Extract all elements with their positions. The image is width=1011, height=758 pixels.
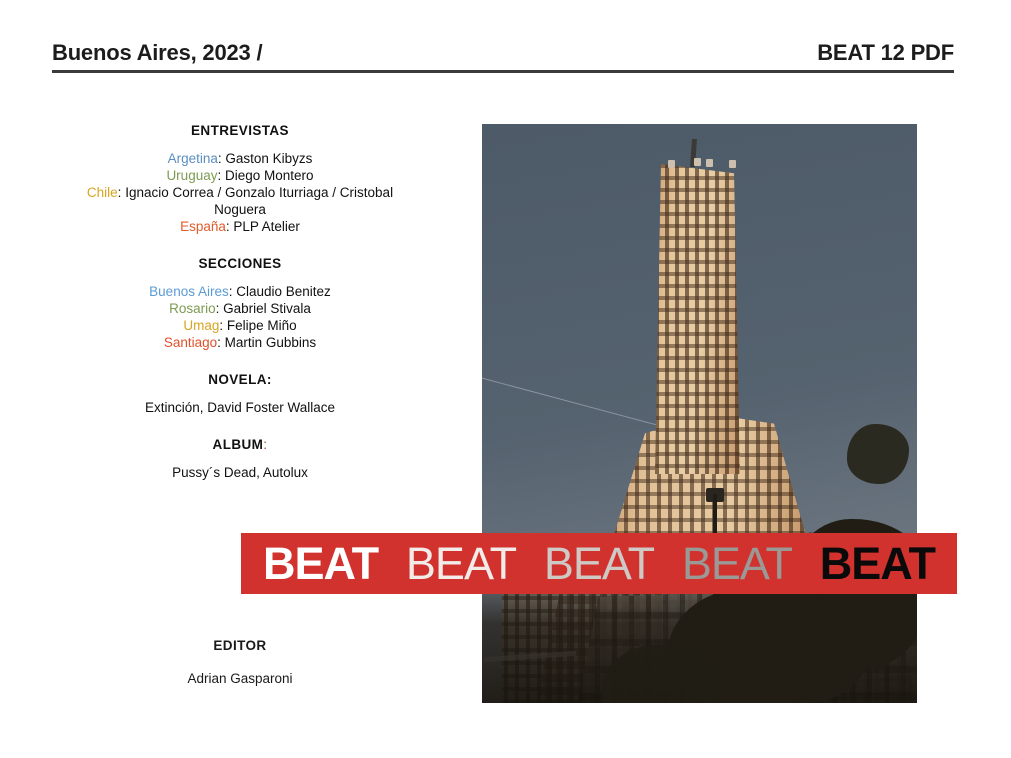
section-city-label: Buenos Aires bbox=[149, 284, 229, 299]
spacer bbox=[84, 351, 396, 371]
masthead-right-title: BEAT 12 PDF bbox=[817, 40, 954, 66]
tower-upper-shaft bbox=[655, 164, 740, 474]
credit-country-label: España bbox=[180, 219, 226, 234]
beat-word-1: BEAT bbox=[263, 541, 378, 586]
section-row-buenos-aires: Buenos Aires: Claudio Benitez bbox=[84, 283, 396, 300]
section-separator: : bbox=[219, 318, 227, 333]
section-heading-album: ALBUM: bbox=[84, 436, 396, 453]
rooftop-antennae bbox=[668, 158, 736, 166]
credit-names: Ignacio Correa / Gonzalo Iturriaga / Cri… bbox=[125, 185, 393, 217]
section-names: Claudio Benitez bbox=[236, 284, 331, 299]
beat-banner: BEAT BEAT BEAT BEAT BEAT bbox=[241, 533, 957, 594]
credit-names: Diego Montero bbox=[225, 168, 314, 183]
credits-column: ENTREVISTAS Argetina: Gaston Kibyzs Urug… bbox=[84, 122, 396, 481]
section-separator: : bbox=[217, 335, 225, 350]
masthead-divider bbox=[52, 70, 954, 73]
album-heading-text: ALBUM bbox=[213, 437, 264, 452]
credit-country-label: Argetina bbox=[168, 151, 218, 166]
masthead: Buenos Aires, 2023 / BEAT 12 PDF bbox=[52, 40, 954, 66]
spacer bbox=[84, 416, 396, 436]
editor-block: EDITOR Adrian Gasparoni bbox=[84, 637, 396, 687]
credit-country-label: Chile bbox=[87, 185, 118, 200]
credit-row-uruguay: Uruguay: Diego Montero bbox=[84, 167, 396, 184]
section-row-santiago: Santiago: Martin Gubbins bbox=[84, 334, 396, 351]
section-row-rosario: Rosario: Gabriel Stivala bbox=[84, 300, 396, 317]
credit-country-label: Uruguay bbox=[166, 168, 217, 183]
section-city-label: Umag bbox=[183, 318, 219, 333]
credit-row-argetina: Argetina: Gaston Kibyzs bbox=[84, 150, 396, 167]
editor-value: Adrian Gasparoni bbox=[84, 670, 396, 687]
spacer bbox=[84, 235, 396, 255]
beat-word-3: BEAT bbox=[544, 541, 654, 586]
credit-row-espana: España: PLP Atelier bbox=[84, 218, 396, 235]
section-heading-entrevistas: ENTREVISTAS bbox=[84, 122, 396, 139]
window-grid bbox=[655, 164, 740, 474]
credit-names: Gaston Kibyzs bbox=[225, 151, 312, 166]
section-names: Gabriel Stivala bbox=[223, 301, 311, 316]
section-names: Felipe Miño bbox=[227, 318, 297, 333]
beat-word-2: BEAT bbox=[406, 541, 516, 586]
masthead-left-title: Buenos Aires, 2023 / bbox=[52, 40, 262, 66]
beat-word-4: BEAT bbox=[682, 541, 792, 586]
credit-row-chile: Chile: Ignacio Correa / Gonzalo Iturriag… bbox=[84, 184, 396, 218]
section-names: Martin Gubbins bbox=[225, 335, 317, 350]
beat-word-5: BEAT bbox=[820, 541, 935, 586]
cover-photograph bbox=[482, 124, 917, 703]
album-value: Pussy´s Dead, Autolux bbox=[84, 464, 396, 481]
section-row-umag: Umag: Felipe Miño bbox=[84, 317, 396, 334]
section-separator: : bbox=[216, 301, 224, 316]
section-heading-novela: NOVELA: bbox=[84, 371, 396, 388]
section-heading-secciones: SECCIONES bbox=[84, 255, 396, 272]
section-heading-editor: EDITOR bbox=[84, 637, 396, 654]
credit-names: PLP Atelier bbox=[233, 219, 300, 234]
section-city-label: Santiago bbox=[164, 335, 217, 350]
credit-separator: : bbox=[217, 168, 225, 183]
section-city-label: Rosario bbox=[169, 301, 216, 316]
album-heading-colon: : bbox=[263, 437, 267, 452]
novela-value: Extinción, David Foster Wallace bbox=[84, 399, 396, 416]
